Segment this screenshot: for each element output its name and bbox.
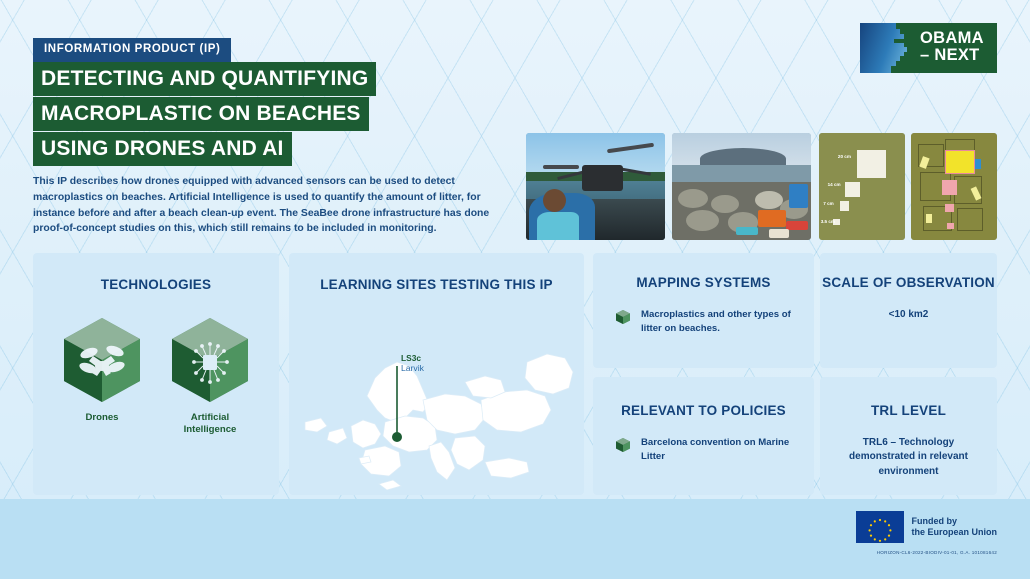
trl-level-value: TRL6 – Technology demonstrated in releva… (820, 436, 997, 480)
logo-text-line1: OBAMA (920, 30, 984, 47)
drone-operator-photo (526, 133, 665, 240)
trl-level-title: TRL LEVEL (820, 403, 997, 420)
information-product-badge: INFORMATION PRODUCT (IP) (33, 38, 231, 62)
learning-sites-title: LEARNING SITES TESTING THIS IP (289, 277, 584, 294)
europe-map-svg (289, 300, 584, 490)
mapping-systems-title: MAPPING SYSTEMS (593, 275, 814, 292)
target-label-1: 14 cm (828, 182, 841, 187)
eu-flag-icon (856, 511, 904, 543)
relevant-to-policies-panel: RELEVANT TO POLICIES Barcelona conventio… (593, 377, 814, 495)
scale-of-observation-value: <10 km2 (820, 308, 997, 323)
cube-bullet-icon (615, 437, 631, 453)
relevant-to-policies-item: Barcelona convention on Marine Litter (593, 436, 814, 464)
obama-next-logo: OBAMA – NEXT (860, 23, 997, 73)
technology-ai-label-line2: Intelligence (184, 424, 237, 435)
infographic-page: INFORMATION PRODUCT (IP) DETECTING AND Q… (0, 0, 1030, 579)
mapping-systems-panel: MAPPING SYSTEMS Macroplastics and other … (593, 253, 814, 368)
cube-bullet-icon (615, 309, 631, 325)
eu-funding-text: Funded by the European Union (912, 516, 998, 539)
technology-ai-label-line1: Artificial (191, 412, 229, 423)
drone-icon (64, 318, 140, 402)
learning-sites-panel: LEARNING SITES TESTING THIS IP (289, 253, 584, 495)
relevant-to-policies-item-text: Barcelona convention on Marine Litter (641, 436, 796, 464)
eu-funding-line1: Funded by (912, 516, 958, 526)
technologies-title: TECHNOLOGIES (33, 277, 279, 294)
logo-text: OBAMA – NEXT (920, 30, 984, 65)
target-label-3: 3.5 cm (821, 219, 835, 224)
ai-chip-icon (172, 318, 248, 402)
target-label-0: 20 cm (838, 154, 851, 159)
technologies-panel: TECHNOLOGIES (33, 253, 279, 495)
relevant-to-policies-title: RELEVANT TO POLICIES (593, 403, 814, 420)
trl-level-panel: TRL LEVEL TRL6 – Technology demonstrated… (820, 377, 997, 495)
lead-paragraph: This IP describes how drones equipped wi… (33, 174, 503, 237)
beach-litter-photo (672, 133, 811, 240)
technology-drones: Drones (61, 318, 143, 437)
learning-site-label: LS3c Larvik (401, 353, 424, 373)
technology-ai: Artificial Intelligence (169, 318, 251, 437)
logo-text-line2: – NEXT (920, 47, 984, 64)
technologies-list: Drones (33, 318, 279, 437)
aerial-targets-photo: 20 cm 14 cm 7 cm 3.5 cm (819, 133, 905, 240)
grant-agreement-text: HORIZON-CL6-2022-BIODIV-01-01, G.A. 1010… (856, 550, 998, 555)
eu-funding-line2: the European Union (912, 527, 998, 537)
title-line-1: DETECTING AND QUANTIFYING (33, 62, 376, 96)
target-label-2: 7 cm (823, 201, 833, 206)
technology-ai-label: Artificial Intelligence (169, 412, 251, 437)
eu-funding-block: Funded by the European Union HORIZON-CL6… (856, 511, 998, 555)
learning-site-code: LS3c (401, 353, 424, 363)
mapping-systems-item: Macroplastics and other types of litter … (593, 308, 814, 336)
scale-of-observation-title: SCALE OF OBSERVATION (820, 275, 997, 292)
title-line-2: MACROPLASTIC ON BEACHES (33, 97, 369, 131)
title-line-3: USING DRONES AND AI (33, 132, 292, 166)
technology-drones-label: Drones (61, 412, 143, 424)
scale-of-observation-panel: SCALE OF OBSERVATION <10 km2 (820, 253, 997, 368)
ai-segmentation-photo (911, 133, 997, 240)
page-title: DETECTING AND QUANTIFYING MACROPLASTIC O… (33, 62, 408, 167)
learning-site-name: Larvik (401, 363, 424, 373)
europe-map: LS3c Larvik (289, 300, 584, 490)
mapping-systems-item-text: Macroplastics and other types of litter … (641, 308, 796, 336)
